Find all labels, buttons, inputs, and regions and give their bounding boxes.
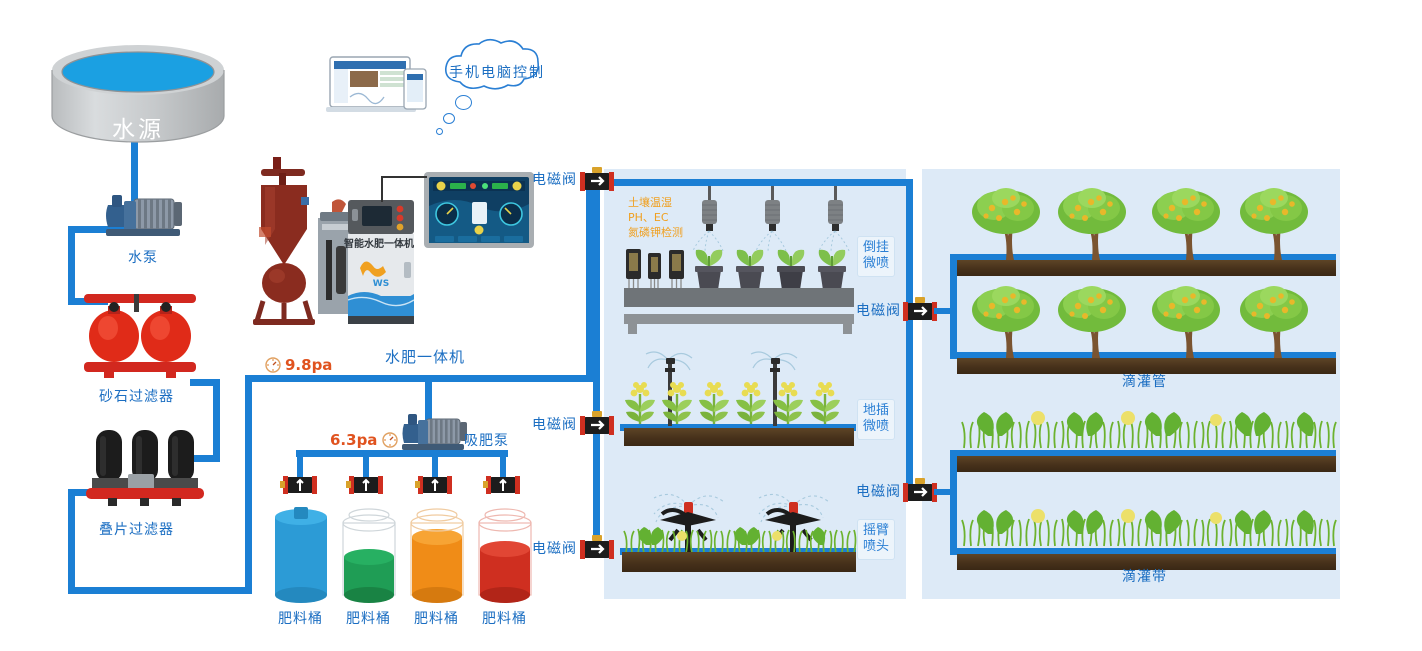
zone-label-hanging-line2: 微喷 <box>863 256 889 272</box>
fertigation-machine-label: 水肥一体机 <box>385 346 465 367</box>
pressure-main-label: 9.8pa <box>285 356 332 374</box>
cloud-control-label: 手机电脑控制 <box>449 62 545 82</box>
sensor-line-3: 氮磷钾检测 <box>628 226 683 241</box>
gauge-icon-fert <box>382 432 398 448</box>
fert-tank-3 <box>408 505 466 603</box>
pipe-main-horizontal <box>245 375 593 382</box>
pipe-bottom-run <box>68 587 252 594</box>
pipe-bottom-up <box>245 375 252 594</box>
solenoid-label-top-left: 电磁阀 <box>532 169 577 189</box>
sand-filter-icon <box>78 288 202 384</box>
water-pump-icon <box>100 193 196 239</box>
sensor-line-2: PH、EC <box>628 211 683 226</box>
zone-label-rocker-line1: 摇臂 <box>863 523 889 539</box>
pipe-main-riser <box>586 182 593 382</box>
disc-filter-label: 叠片过滤器 <box>99 519 174 539</box>
fert-valve-2 <box>346 472 386 498</box>
solenoid-label-bottom-left: 电磁阀 <box>532 538 577 558</box>
zone-label-ground-spray: 地插 微喷 <box>857 399 895 440</box>
turf-row-2 <box>960 502 1336 548</box>
pipe-zone-left-riser <box>593 179 600 555</box>
soil-strip-turf-1 <box>957 456 1336 472</box>
zone-label-ground-line2: 微喷 <box>863 419 889 435</box>
drip-pipe-label: 滴灌管 <box>1122 371 1167 391</box>
solenoid-valve-bottom-left <box>578 535 616 563</box>
hmi-cable <box>381 176 427 178</box>
soil-strip-orchard-1 <box>957 260 1336 276</box>
pipe-orchard-left-riser <box>950 254 957 359</box>
water-pump-label: 水泵 <box>128 247 158 267</box>
cyclone-separator-icon <box>251 157 317 327</box>
greenhouse-bench-leg-left <box>628 314 637 334</box>
pipe-sandfilter-out-vert <box>213 379 220 461</box>
pipe-pump-out-left <box>68 232 75 304</box>
fert-tank-label-1: 肥料桶 <box>278 608 323 628</box>
orchard-row-2 <box>972 280 1332 360</box>
laptop-phone-icon <box>326 55 430 117</box>
fert-tank-label-3: 肥料桶 <box>414 608 459 628</box>
suction-pump-label: 吸肥泵 <box>464 430 509 450</box>
solenoid-label-top-right: 电磁阀 <box>856 300 901 320</box>
solenoid-valve-mid-left <box>578 411 616 439</box>
solenoid-valve-top-left <box>578 167 616 195</box>
fert-valve-3 <box>415 472 455 498</box>
fert-valve-4 <box>483 472 523 498</box>
cloud-dot-medium <box>443 113 455 124</box>
fert-tank-2 <box>340 505 398 603</box>
soil-bed-zone3 <box>622 552 856 572</box>
fert-tank-label-2: 肥料桶 <box>346 608 391 628</box>
turf-row-1 <box>960 404 1336 450</box>
solenoid-label-bottom-right: 电磁阀 <box>856 481 901 501</box>
zone-label-rocker-sprinkler: 摇臂 喷头 <box>857 519 895 560</box>
flowering-crops-row <box>624 372 854 426</box>
zone-label-ground-line1: 地插 <box>863 403 889 419</box>
fert-tank-4 <box>476 505 534 603</box>
pipe-zone-right-riser <box>906 179 913 489</box>
irrigation-system-diagram: 水源 水泵 <box>0 0 1422 651</box>
svg-text:WS: WS <box>373 279 389 289</box>
zone-label-rocker-line2: 喷头 <box>863 539 889 555</box>
pipe-turf-left-riser <box>950 450 957 555</box>
solenoid-label-mid-left: 电磁阀 <box>532 414 577 434</box>
greenhouse-bench-leg-right <box>843 314 852 334</box>
pipe-zone-top <box>593 179 913 186</box>
orchard-row-1 <box>972 182 1332 262</box>
soil-sensor-text: 土壤温湿 PH、EC 氮磷钾检测 <box>628 196 683 241</box>
fertigation-machine-icon: WS <box>318 196 428 328</box>
zone-label-hanging-spray: 倒挂 微喷 <box>857 236 895 277</box>
gauge-icon-main <box>265 357 281 373</box>
soil-bed-zone2 <box>624 428 854 446</box>
pressure-fert-label: 6.3pa <box>330 431 377 449</box>
disc-filter-icon <box>82 428 208 508</box>
cloud-dot-large <box>455 95 472 110</box>
turf-row-zone3 <box>622 515 856 555</box>
potted-seedlings-group <box>688 232 848 294</box>
drip-tape-label: 滴灌带 <box>1122 566 1167 586</box>
pipe-discfilter-down <box>68 489 75 594</box>
sensor-line-1: 土壤温湿 <box>628 196 683 211</box>
water-source-label: 水源 <box>48 110 228 144</box>
greenhouse-bench-top <box>624 288 854 307</box>
machine-body-text: 智能水肥一体机 <box>344 235 414 250</box>
greenhouse-bench-shelf <box>624 314 854 324</box>
sand-filter-label: 砂石过滤器 <box>99 386 174 406</box>
zone-label-hanging-line1: 倒挂 <box>863 240 889 256</box>
cloud-dot-small <box>436 128 443 135</box>
fert-tank-1 <box>272 505 330 603</box>
fert-tank-label-4: 肥料桶 <box>482 608 527 628</box>
hmi-cable-drop <box>381 176 383 202</box>
hmi-screen-icon <box>424 172 534 248</box>
fert-valve-1 <box>280 472 320 498</box>
